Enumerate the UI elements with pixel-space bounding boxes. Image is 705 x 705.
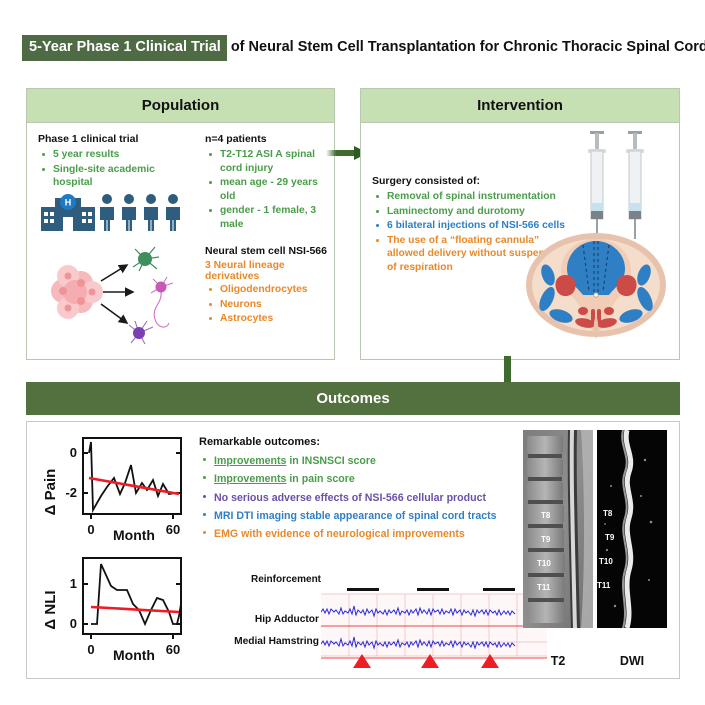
oligodendrocyte-soma [138,252,152,266]
ytick-1: 1 [70,576,77,591]
outcome-rest: in pain score [286,473,354,485]
emg-figure: Reinforcement Hip Adductor Medial Hamstr… [207,574,537,674]
phase-trial-heading: Phase 1 clinical trial [38,133,188,146]
ytick-0: 0 [70,616,77,631]
outcome-underlined: Improvements [214,455,286,467]
list-item: Improvements in pain score [212,471,529,487]
emg-channel-label-medial-hamstring: Medial Hamstring [189,636,319,647]
list-item: Single-site academic hospital [51,163,188,190]
emg-channel-label-hip-adductor: Hip Adductor [199,614,319,625]
outcome-underlined: Improvements [214,473,286,485]
outcomes-heading: Remarkable outcomes: [199,436,529,450]
vlabel-t11: T11 [537,583,551,592]
phase-trial-list: 5 year results Single-site academic hosp… [38,148,188,190]
emg-markers [321,654,551,670]
list-item: Removal of spinal instrumentation [385,190,577,204]
stemcell-heading: Neural stem cell NSI-566 [205,245,333,258]
outcome-charts: Δ Pain 0 -2 0 60 Month [39,430,194,668]
xtick-0: 0 [87,522,94,537]
reinforcement-bars [347,588,515,591]
xtick-0: 0 [87,642,94,657]
mri-images: T8 T9 T10 T11 T8 T9 T10 T11 [523,430,671,648]
marker-triangle [481,654,499,668]
intervention-body: Surgery consisted of: Removal of spinal … [361,123,679,360]
population-icon-group: H [39,191,199,236]
vlabel-t10: T10 [599,557,613,566]
differentiation-arrows [101,265,133,323]
vlabel-t9: T9 [605,533,615,542]
vlabel-t10: T10 [537,559,551,568]
emg-title: Reinforcement [251,574,321,585]
list-item: Laminectomy and durotomy [385,205,577,219]
marker-triangle [421,654,439,668]
vlabel-t8: T8 [603,509,613,518]
vlabel-t11: T11 [597,581,611,590]
person-icons [100,194,180,231]
outcome-rest: in INSNSCI score [286,455,375,467]
mri-figure: T8 T9 T10 T11 T8 T9 T10 T11 [523,430,671,670]
infographic-root: 5-Year Phase 1 Clinical Trial of Neural … [0,0,705,705]
delta-nli-ylabel: Δ NLI [42,590,59,629]
patients-list: T2-T12 ASI A spinal cord injury mean age… [205,148,333,231]
spinal-cord-cross-section-icon [521,223,671,348]
outcomes-list-block: Remarkable outcomes: Improvements in INS… [199,436,529,545]
stemcell-block: Neural stem cell NSI-566 3 Neural lineag… [205,245,333,327]
surgery-heading: Surgery consisted of: [372,175,577,188]
marker-triangle [353,654,371,668]
delta-pain-chart: Δ Pain 0 -2 0 60 Month [39,430,194,548]
ytick-0: 0 [70,445,77,460]
mri-caption-t2: T2 [523,654,593,668]
delta-nli-xlabel: Month [113,647,155,663]
list-item: T2-T12 ASI A spinal cord injury [218,148,333,175]
vlabel-t8: T8 [541,511,551,520]
page-title: 5-Year Phase 1 Clinical Trial of Neural … [22,33,692,63]
list-item: Neurons [218,298,333,312]
vertebral-bodies [527,436,565,623]
xtick-60: 60 [166,642,180,657]
neural-differentiation-illustration [35,241,197,351]
list-item: MRI DTI imaging stable appearance of spi… [212,508,529,524]
outcomes-list: Improvements in INSNSCI score Improvemen… [199,453,529,543]
intervention-panel: Intervention Surgery consisted of: Remov… [360,88,680,360]
stem-cell-cluster-icon [51,265,103,319]
astrocyte-soma [133,327,145,339]
ytick-neg2: -2 [65,485,77,500]
stemcell-list: Oligodendrocytes Neurons Astrocytes [205,283,333,326]
title-highlight: 5-Year Phase 1 Clinical Trial [22,35,227,61]
vlabel-t9: T9 [541,535,551,544]
population-panel: Population Phase 1 clinical trial 5 year… [26,88,335,360]
list-item: EMG with evidence of neurological improv… [212,526,529,542]
outcomes-panel: Δ Pain 0 -2 0 60 Month [26,421,680,679]
patients-block: n=4 patients T2-T12 ASI A spinal cord in… [205,133,333,233]
population-body: Phase 1 clinical trial 5 year results Si… [27,123,334,360]
delta-nli-trendline [91,607,179,612]
xtick-60: 60 [166,522,180,537]
population-header-label: Population [142,97,220,114]
population-header: Population [27,89,334,123]
list-item: Improvements in INSNSCI score [212,453,529,469]
list-item: gender - 1 female, 3 male [218,204,333,231]
stemcell-subheading: 3 Neural lineage derivatives [205,260,333,282]
delta-pain-series [89,442,179,510]
hospital-and-people-icons: H [39,191,199,236]
neuron-soma [156,282,167,293]
intervention-header: Intervention [361,89,679,123]
mri-caption-dwi: DWI [597,654,667,668]
delta-pain-xlabel: Month [113,527,155,543]
delta-nli-series [91,564,181,624]
title-rest: of Neural Stem Cell Transplantation for … [227,40,705,56]
intervention-header-label: Intervention [477,97,563,114]
outcomes-header-bar: Outcomes [26,382,680,415]
outcomes-header-label: Outcomes [316,390,389,407]
hospital-badge-letter: H [65,198,72,208]
list-item: Oligodendrocytes [218,283,333,297]
phase-trial-block: Phase 1 clinical trial 5 year results Si… [38,133,188,191]
delta-pain-ylabel: Δ Pain [42,469,59,516]
delta-nli-chart: Δ NLI 1 0 0 60 Month [39,552,194,670]
patients-heading: n=4 patients [205,133,333,146]
list-item: 5 year results [51,148,188,162]
list-item: Astrocytes [218,312,333,326]
list-item: mean age - 29 years old [218,176,333,203]
list-item: No serious adverse effects of NSI-566 ce… [212,490,529,506]
